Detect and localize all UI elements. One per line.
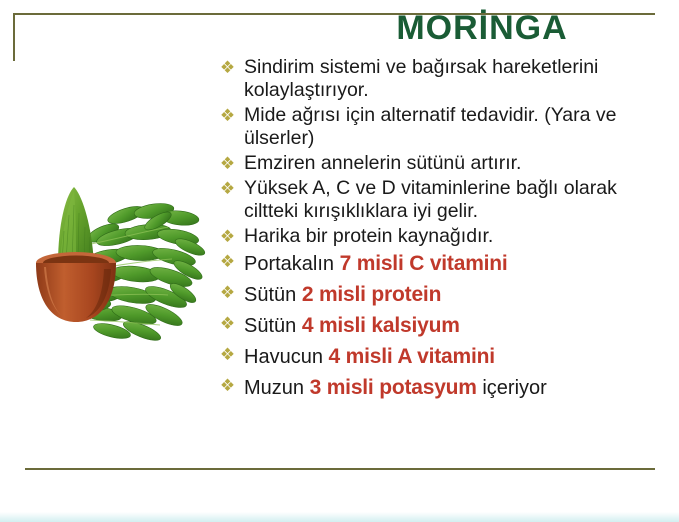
moringa-illustration — [8, 175, 213, 360]
bottom-border-rule — [25, 468, 655, 470]
diamond-bullet-icon: ❖ — [219, 314, 236, 333]
diamond-bullet-icon: ❖ — [219, 345, 236, 364]
benefit-item-breastfeeding: ❖Emziren annelerin sütünü artırır. — [218, 152, 670, 175]
benefit-item-vitamins-skin: ❖Yüksek A, C ve D vitaminlerine bağlı ol… — [218, 177, 670, 223]
benefit-highlight: 7 misli C vitamini — [340, 252, 508, 275]
left-border-rule — [13, 13, 15, 61]
benefit-text: Mide ağrısı için alternatif tedavidir. (… — [244, 104, 616, 149]
benefits-list: ❖Sindirim sistemi ve bağırsak hareketler… — [218, 56, 670, 405]
benefit-text: Yüksek A, C ve D vitaminlerine bağlı ola… — [244, 177, 617, 222]
benefit-item-digestion: ❖Sindirim sistemi ve bağırsak hareketler… — [218, 56, 670, 102]
diamond-bullet-icon: ❖ — [219, 252, 236, 271]
benefit-item-protein-source: ❖Harika bir protein kaynağıdır. — [218, 225, 670, 248]
diamond-bullet-icon: ❖ — [219, 227, 236, 246]
benefit-text: Harika bir protein kaynağıdır. — [244, 225, 493, 247]
page-title: MORİNGA — [352, 8, 612, 48]
diamond-bullet-icon: ❖ — [219, 58, 236, 77]
benefit-item-potassium: ❖Muzun 3 misli potasyum içeriyor — [218, 374, 670, 402]
bottom-tint-strip — [0, 512, 679, 522]
benefit-text: Sindirim sistemi ve bağırsak hareketleri… — [244, 56, 598, 101]
benefit-text: Muzun 3 misli potasyum içeriyor — [244, 377, 547, 399]
benefit-item-protein: ❖Sütün 2 misli protein — [218, 281, 670, 309]
slide-canvas: MORİNGA — [0, 0, 679, 522]
benefit-item-vitamin-c: ❖Portakalın 7 misli C vitamini — [218, 250, 670, 278]
benefit-text: Portakalın 7 misli C vitamini — [244, 253, 508, 275]
benefit-text: Sütün 4 misli kalsiyum — [244, 315, 460, 337]
benefit-highlight: 3 misli potasyum — [310, 376, 477, 399]
benefit-text: Havucun 4 misli A vitamini — [244, 346, 495, 368]
diamond-bullet-icon: ❖ — [219, 376, 236, 395]
benefit-highlight: 4 misli kalsiyum — [302, 314, 460, 337]
diamond-bullet-icon: ❖ — [219, 154, 236, 173]
benefit-text: Sütün 2 misli protein — [244, 284, 441, 306]
benefit-highlight: 4 misli A vitamini — [329, 345, 495, 368]
benefit-item-calcium: ❖Sütün 4 misli kalsiyum — [218, 312, 670, 340]
benefit-highlight: 2 misli protein — [302, 283, 441, 306]
moringa-image — [8, 175, 213, 360]
diamond-bullet-icon: ❖ — [219, 283, 236, 302]
diamond-bullet-icon: ❖ — [219, 106, 236, 125]
benefit-item-stomach-ache: ❖Mide ağrısı için alternatif tedavidir. … — [218, 104, 670, 150]
benefit-item-vitamin-a: ❖Havucun 4 misli A vitamini — [218, 343, 670, 371]
diamond-bullet-icon: ❖ — [219, 179, 236, 198]
benefit-text: Emziren annelerin sütünü artırır. — [244, 152, 521, 174]
